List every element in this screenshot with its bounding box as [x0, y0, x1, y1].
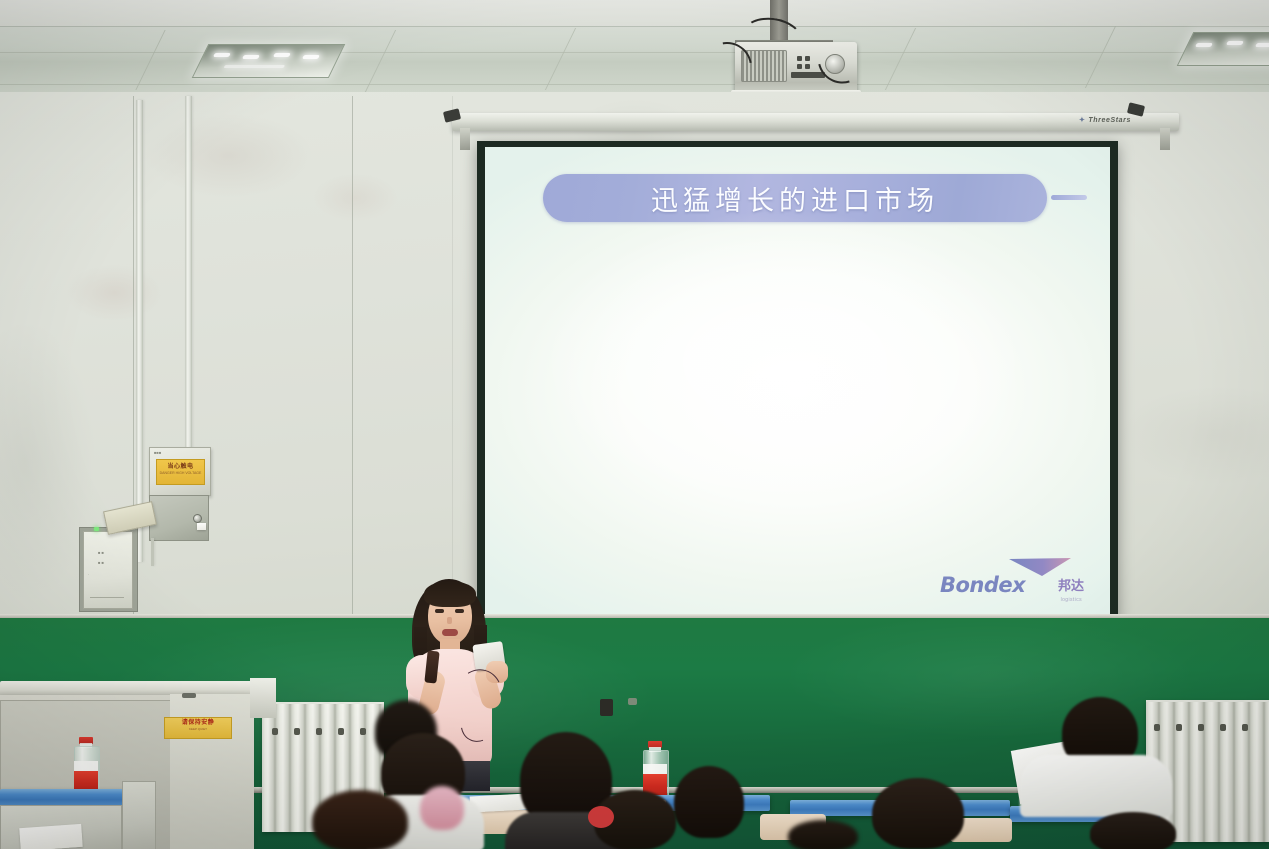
quiet-notice-text: 请保持安静 [165, 718, 231, 727]
quiet-notice-sticker: 请保持安静 KEEP QUIET [164, 717, 232, 739]
audience-head-10 [1090, 812, 1176, 849]
bondex-wordmark: Bondex [940, 573, 1025, 597]
projector-screen-housing: ✦ThreeStars [452, 113, 1179, 131]
slide-title-text: 迅猛增长的进口市场 [651, 179, 939, 218]
panel-drop-cable [151, 538, 154, 566]
wall-conduit-b [185, 96, 192, 448]
bondex-subtext: logistics [1061, 597, 1082, 603]
podium-hardware [182, 693, 196, 698]
ceiling-light-left [192, 44, 346, 78]
presenter-fringe [424, 581, 476, 607]
warning-label-cn: 当心触电 [157, 460, 204, 471]
audience-head-7 [674, 766, 744, 838]
high-voltage-warning-label: 当心触电 DANGER HIGH VOLTAGE [156, 459, 205, 485]
ceiling-light-right [1177, 32, 1269, 66]
slide-logo-bondex: Bondex 邦达 logistics [940, 557, 1090, 605]
ceiling-slab [0, 0, 1269, 27]
wall-conduit-a [136, 100, 143, 562]
desk-divider-left [122, 781, 156, 849]
projection-screen: 迅猛增长的进口市场 Bondex 邦达 logi [477, 141, 1118, 622]
brand-star-icon: ✦ [1079, 117, 1085, 124]
control-cabinet [149, 495, 209, 541]
audience-body-9 [1020, 755, 1172, 817]
fire-equipment-panel: ■ ■ ■ ■ · [83, 531, 133, 609]
board-clip [600, 699, 613, 716]
warning-label-sub: DANGER HIGH VOLTAGE [157, 471, 204, 476]
bondex-chinese-name: 邦达 [1058, 575, 1084, 594]
screen-brand-label: ✦ThreeStars [1079, 116, 1131, 124]
board-magnet [628, 698, 637, 705]
panel-status-led [94, 527, 99, 531]
cabinet-lock-icon [193, 514, 202, 523]
slide-surface: 迅猛增长的进口市场 Bondex 邦达 logi [485, 147, 1110, 615]
paper-on-desk-left [19, 824, 82, 849]
audience-head-5 [420, 786, 464, 830]
classroom-photo: ✦ThreeStars 迅猛增长的进口市场 [0, 0, 1269, 849]
ceiling [0, 0, 1269, 100]
audience-head-8 [872, 778, 964, 849]
quiet-notice-sub: KEEP QUIET [165, 727, 231, 731]
slide-title-banner: 迅猛增长的进口市场 [543, 174, 1047, 222]
electrical-box-upper: ■■■ 当心触电 DANGER HIGH VOLTAGE [149, 447, 211, 496]
slide-title-accent-bar [1051, 195, 1087, 200]
audience-head-3 [312, 790, 408, 849]
hair-bow [588, 806, 614, 828]
podium-corner [250, 678, 276, 718]
audience-head-11 [788, 820, 858, 849]
